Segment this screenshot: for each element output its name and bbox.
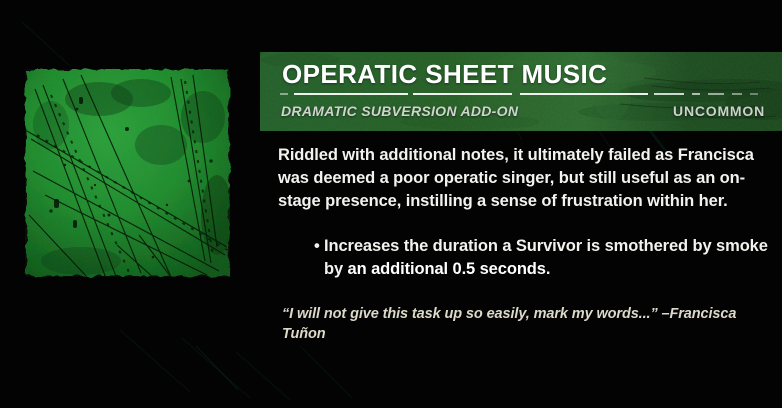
addon-effect-item: •Increases the duration a Survivor is sm… xyxy=(278,235,768,281)
addon-card: OPERATIC SHEET MUSIC DRAMATIC SUBVERSION… xyxy=(0,0,782,408)
title-divider xyxy=(280,93,765,95)
rarity-header-band: OPERATIC SHEET MUSIC DRAMATIC SUBVERSION… xyxy=(260,52,782,131)
addon-flavor-quote: “I will not give this task up so easily,… xyxy=(282,304,768,344)
addon-title: OPERATIC SHEET MUSIC xyxy=(282,59,607,89)
addon-body: Riddled with additional notes, it ultima… xyxy=(278,144,768,344)
addon-effect-list: •Increases the duration a Survivor is sm… xyxy=(278,235,768,281)
effect-text-after: . xyxy=(546,260,550,278)
effect-highlight-value: an additional 0.5 seconds xyxy=(348,260,546,278)
addon-icon-panel xyxy=(0,0,258,408)
operatic-sheet-music-icon xyxy=(21,65,234,281)
addon-rarity-label: UNCOMMON xyxy=(673,102,765,120)
bullet-icon: • xyxy=(314,235,320,258)
addon-category-label: DRAMATIC SUBVERSION ADD-ON xyxy=(281,102,518,120)
addon-description: Riddled with additional notes, it ultima… xyxy=(278,144,768,213)
